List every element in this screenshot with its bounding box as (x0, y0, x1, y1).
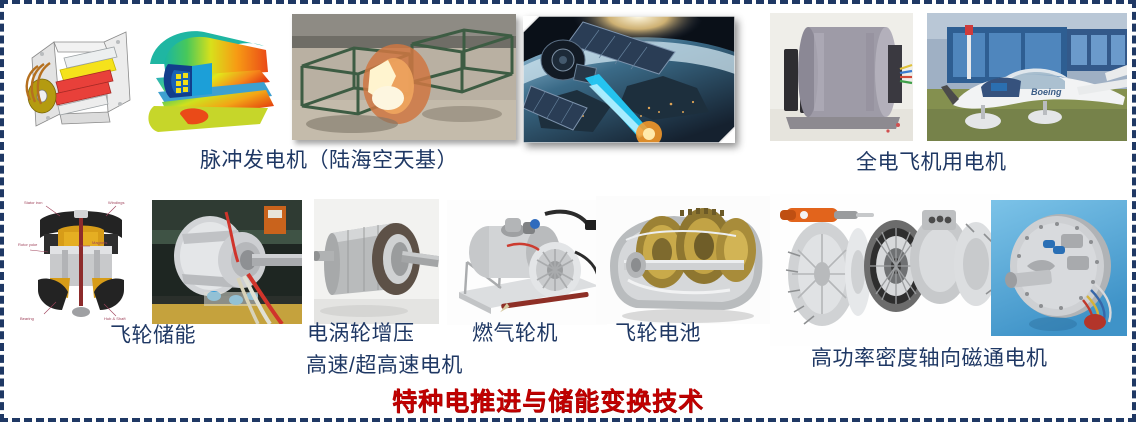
slide-title-red: 特种电推进与储能变换技术 (392, 382, 704, 418)
figure-flywheel-rotor-cutaway: Stator ironWindings Rotor yokeMagnets Be… (16, 194, 146, 322)
figure-flywheel-battery-cutaway (596, 196, 771, 324)
svg-text:Rotor yoke: Rotor yoke (18, 242, 38, 247)
figure-railgun-firing-test (292, 14, 516, 140)
svg-text:Bearing: Bearing (20, 316, 34, 321)
caption-high-speed-motor: 高速/超高速电机 (306, 354, 463, 378)
figure-aircraft-motor-prototype (770, 13, 913, 141)
svg-text:Stator iron: Stator iron (24, 200, 42, 205)
figure-space-based-laser-satellite (523, 16, 735, 143)
slide-frame: Boeing 脉冲发电机（陆海空天基） 全电飞机用电机 (0, 0, 1136, 422)
figure-axial-flux-assembled (991, 200, 1127, 336)
figure-axial-flux-exploded-view (770, 194, 1000, 346)
figure-flywheel-motor-testbench (152, 200, 302, 324)
caption-electric-turbocharger: 电涡轮增压 (307, 322, 415, 346)
figure-pulse-generator-fea (140, 20, 274, 138)
figure-gas-turbine-unit (447, 200, 607, 325)
caption-axial-flux-motor: 高功率密度轴向磁通电机 (811, 347, 1048, 371)
caption-flywheel-energy-storage: 飞轮储能 (110, 324, 196, 348)
caption-pulse-generator: 脉冲发电机（陆海空天基） (200, 149, 458, 173)
caption-all-electric-aircraft-motor: 全电飞机用电机 (856, 151, 1007, 175)
svg-text:Boeing: Boeing (1031, 87, 1062, 97)
caption-gas-turbine: 燃气轮机 (472, 322, 558, 346)
svg-text:Magnets: Magnets (92, 240, 107, 245)
caption-flywheel-battery: 飞轮电池 (615, 322, 701, 346)
svg-text:Hub & Shaft: Hub & Shaft (104, 316, 126, 321)
svg-text:Windings: Windings (108, 200, 124, 205)
figure-pulse-generator-cad (20, 18, 140, 136)
figure-turbocharger-rotor (314, 199, 439, 324)
figure-boeing-electric-aircraft: Boeing (927, 13, 1127, 141)
